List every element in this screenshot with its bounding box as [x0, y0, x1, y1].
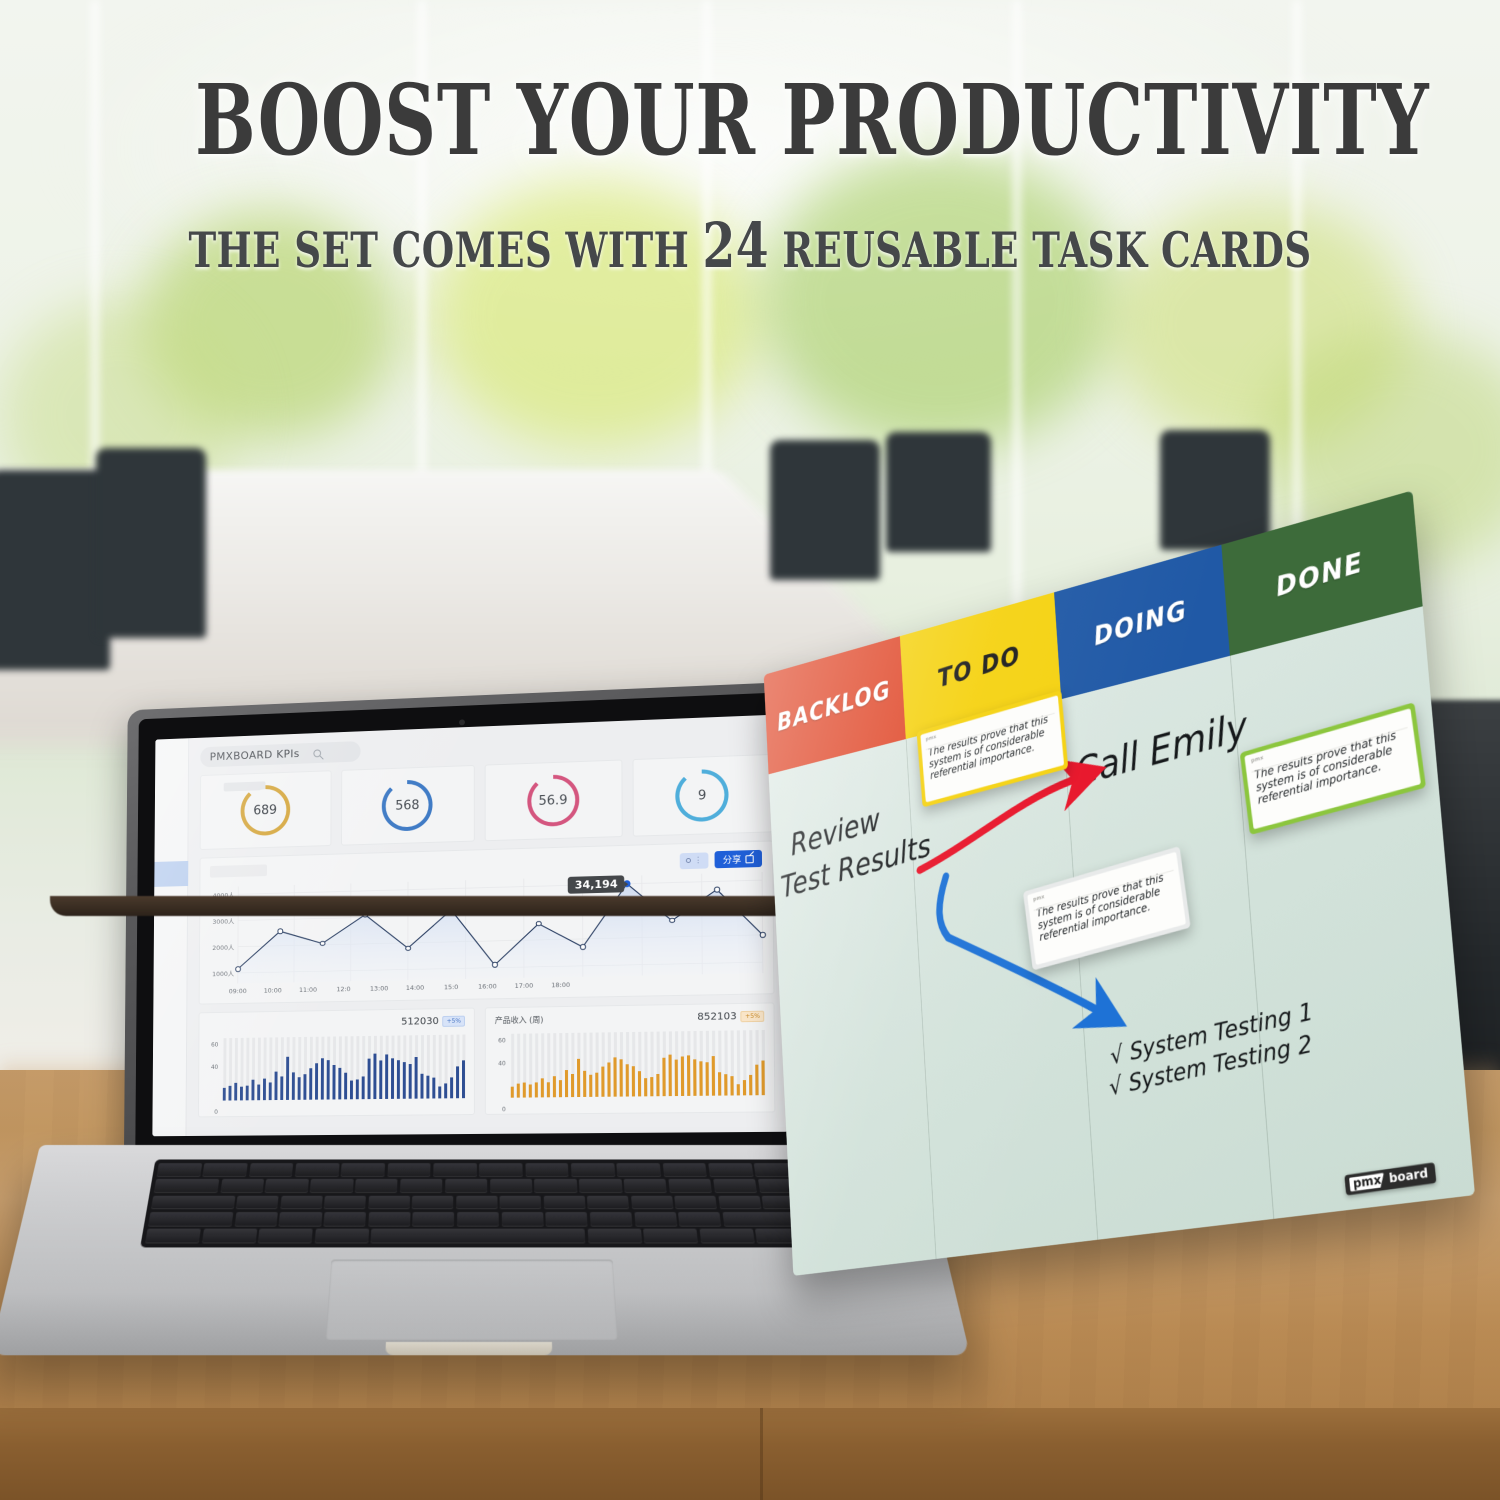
trackpad[interactable] [325, 1260, 618, 1340]
kpi-card[interactable]: 689 [200, 770, 331, 850]
bar [669, 1055, 672, 1096]
x-tick-label: 13:00 [370, 984, 388, 992]
bar [638, 1071, 640, 1096]
y-tick-label: 60 [211, 1042, 218, 1049]
share-button[interactable]: 分享 [715, 850, 763, 868]
bar [681, 1057, 684, 1096]
bar [362, 1076, 364, 1099]
bar-column [396, 1035, 401, 1098]
bar-column [349, 1036, 354, 1099]
bar-column [643, 1032, 648, 1097]
desk-seam [760, 1408, 763, 1500]
bar-column [686, 1031, 692, 1096]
keyboard-key[interactable] [587, 1195, 629, 1209]
card-surface: pmx The results prove that this system i… [1244, 708, 1421, 829]
kpi-card[interactable]: 9 [632, 754, 773, 837]
x-tick-label: 17:00 [515, 982, 534, 990]
task-card-done[interactable]: pmx The results prove that this system i… [1240, 702, 1426, 835]
bar-column [314, 1037, 319, 1100]
y-tick-label: 3000人 [212, 916, 234, 926]
bar [344, 1073, 346, 1100]
bar [700, 1061, 703, 1095]
office-chair [770, 440, 880, 580]
laptop-screen: PMXBOARD KPIs 689 [152, 714, 788, 1136]
subtitle-pre: THE SET COMES WITH [188, 221, 702, 279]
y-tick-label: 40 [211, 1064, 218, 1071]
bar-chart-header: 512030 +5% [208, 1016, 465, 1031]
bar [675, 1060, 678, 1096]
search-input[interactable]: PMXBOARD KPIs [200, 741, 360, 767]
bar [385, 1055, 387, 1099]
data-point[interactable] [405, 945, 410, 951]
bar [565, 1070, 567, 1097]
y-axis-labels: 04060 [205, 1038, 219, 1112]
data-point[interactable] [235, 966, 240, 971]
bar-column [748, 1030, 754, 1095]
office-chair [96, 448, 206, 638]
bar-column [588, 1033, 593, 1097]
data-point[interactable] [760, 932, 766, 938]
bar [456, 1066, 458, 1098]
bar-column [698, 1031, 704, 1096]
keyboard-key[interactable] [543, 1195, 585, 1209]
keyboard-key[interactable] [234, 1212, 277, 1226]
y-tick-label: 1000人 [212, 968, 234, 978]
bar [517, 1084, 519, 1098]
bar-column [384, 1036, 389, 1099]
keyboard-key[interactable] [324, 1195, 366, 1209]
bar [321, 1059, 323, 1100]
bar-chart-card[interactable]: 产品收入 (周) 852103 +5% 04060 [485, 1002, 776, 1115]
keyboard-key[interactable] [490, 1179, 532, 1193]
bar [356, 1079, 358, 1099]
bar [235, 1082, 237, 1100]
keyboard-key[interactable] [314, 1229, 369, 1244]
bar [223, 1088, 225, 1100]
data-point[interactable] [536, 921, 542, 927]
x-tick-label: 15:0 [444, 983, 458, 991]
keyboard-key[interactable] [668, 1179, 712, 1193]
bar [315, 1063, 317, 1099]
bar-column [760, 1030, 766, 1095]
x-tick-label: 16:00 [478, 982, 497, 990]
bar [350, 1080, 352, 1099]
bar [511, 1087, 513, 1098]
sidebar-item-active[interactable] [154, 861, 188, 887]
keyboard-key[interactable] [201, 1229, 256, 1244]
bar-column [729, 1030, 735, 1095]
keyboard-key[interactable] [617, 1163, 662, 1177]
keyboard-key[interactable] [258, 1229, 313, 1244]
bar [462, 1061, 464, 1099]
column-label: DOING [1093, 593, 1187, 652]
bar-column [378, 1036, 383, 1099]
keyboard-key[interactable] [412, 1212, 454, 1226]
data-point[interactable] [320, 941, 325, 946]
bar [529, 1085, 531, 1098]
bar-column [754, 1030, 760, 1095]
bar [380, 1061, 382, 1099]
line-chart-plot: 1000人2000人3000人4000人 34,194 09:0010:0011… [207, 872, 763, 1000]
bar [743, 1081, 745, 1096]
bar-column [674, 1031, 679, 1096]
keyboard-key[interactable] [368, 1195, 410, 1209]
card-text: The results prove that this system is of… [928, 712, 1056, 782]
bar [620, 1059, 622, 1096]
bar-chart-card[interactable]: 512030 +5% 04060 [198, 1008, 475, 1118]
bar-column [612, 1032, 617, 1096]
bar [577, 1059, 579, 1097]
page-title: BOOST YOUR PRODUCTIVITY [195, 72, 1305, 169]
bar-chart-value: 512030 [401, 1016, 439, 1027]
keyboard-key[interactable] [280, 1195, 323, 1209]
kpi-gauge: 689 [240, 784, 290, 836]
bar [608, 1063, 610, 1097]
keyboard-key[interactable] [310, 1179, 353, 1193]
bar [541, 1078, 543, 1097]
bar [397, 1060, 399, 1098]
bar [547, 1082, 549, 1098]
bar [762, 1061, 765, 1096]
data-point[interactable] [277, 929, 282, 934]
bar-column [233, 1038, 238, 1101]
data-point[interactable] [492, 962, 497, 968]
keyboard-key[interactable] [368, 1212, 410, 1226]
subtitle-count: 24 [703, 209, 769, 282]
bar-column [337, 1036, 342, 1099]
bar-column [343, 1036, 348, 1099]
data-point[interactable] [669, 918, 675, 924]
x-tick-label: 18:00 [551, 981, 570, 989]
keyboard-key[interactable] [145, 1229, 201, 1244]
bar [596, 1072, 598, 1096]
bar [749, 1075, 751, 1096]
bar [391, 1059, 393, 1099]
keyboard[interactable] [140, 1159, 816, 1247]
kpi-gauge: 9 [675, 769, 729, 823]
bar-column [552, 1033, 557, 1097]
bar-column [582, 1033, 587, 1097]
kpi-card[interactable]: 56.9 [485, 759, 623, 841]
bar [712, 1056, 715, 1095]
bar [445, 1083, 447, 1098]
bar [725, 1074, 727, 1096]
bar [559, 1080, 561, 1098]
bar [286, 1057, 288, 1100]
bar-plot: 04060 [492, 1030, 766, 1110]
bar [403, 1062, 405, 1099]
card-text: The results prove that this system is of… [1036, 869, 1176, 944]
keyboard-key[interactable] [590, 1212, 633, 1226]
bar [756, 1065, 759, 1096]
bar [602, 1067, 604, 1097]
bar [252, 1079, 254, 1100]
bar-plot: 04060 [205, 1034, 466, 1112]
bar-column [461, 1034, 466, 1098]
keyboard-key[interactable] [400, 1179, 443, 1193]
more-icon: ⋮ [694, 856, 702, 864]
bar [523, 1082, 525, 1098]
keyboard-key[interactable] [718, 1195, 761, 1209]
desk-edge [0, 1408, 1500, 1500]
keyboard-key[interactable] [699, 1229, 754, 1244]
status-badge: +5% [443, 1016, 465, 1027]
brand-mark: pmx [1349, 1173, 1385, 1192]
x-tick-label: 10:00 [264, 986, 282, 994]
bar-column [735, 1030, 741, 1095]
keyboard-key[interactable] [236, 1195, 279, 1209]
bar [298, 1077, 300, 1100]
keyboard-key[interactable] [295, 1163, 340, 1177]
laptop-bezel: PMXBOARD KPIs 689 [135, 691, 807, 1151]
keyboard-key[interactable] [579, 1179, 622, 1193]
keyboard-key[interactable] [587, 1229, 642, 1244]
keyboard-key[interactable] [546, 1212, 588, 1226]
keyboard-key[interactable] [323, 1212, 366, 1226]
bar-chart-value-group: 512030 +5% [401, 1016, 465, 1028]
keyboard-key[interactable] [457, 1212, 499, 1226]
keyboard-key[interactable] [678, 1212, 721, 1226]
bars [222, 1034, 466, 1100]
bar [614, 1058, 616, 1097]
y-tick-label: 40 [498, 1060, 506, 1067]
bar-column [600, 1032, 605, 1096]
bar [427, 1075, 429, 1098]
bar-column [262, 1038, 267, 1101]
kpi-card[interactable]: 568 [341, 765, 475, 846]
bar [339, 1068, 341, 1100]
bar [439, 1087, 441, 1099]
keyboard-key[interactable] [154, 1179, 220, 1193]
bars [510, 1030, 766, 1098]
bar-column [268, 1037, 273, 1100]
laptop-lid: PMXBOARD KPIs 689 [124, 681, 820, 1173]
bar-column [402, 1035, 407, 1098]
y-tick-label: 0 [214, 1109, 218, 1116]
chart-title-placeholder [210, 864, 267, 877]
keyboard-key[interactable] [631, 1195, 673, 1209]
keyboard-key[interactable] [643, 1229, 698, 1244]
keyboard-key[interactable] [713, 1179, 757, 1193]
bar [571, 1074, 573, 1097]
bar [644, 1078, 646, 1097]
bar-column [667, 1031, 672, 1096]
keyboard-key[interactable] [534, 1179, 577, 1193]
bar-column [437, 1035, 442, 1099]
keyboard-key[interactable] [500, 1195, 542, 1209]
scene: BOOST YOUR PRODUCTIVITY THE SET COMES WI… [0, 0, 1500, 1500]
bar-column [420, 1035, 425, 1098]
bar [246, 1085, 248, 1100]
plot-area: 34,194 [238, 872, 763, 983]
keyboard-key[interactable] [412, 1195, 454, 1209]
bar-column [425, 1035, 430, 1099]
bar-column [637, 1032, 642, 1097]
bar [687, 1056, 690, 1096]
card-surface: pmx The results prove that this system i… [1027, 852, 1186, 965]
page-subtitle: THE SET COMES WITH 24 REUSABLE TASK CARD… [180, 209, 1320, 282]
bar-column [655, 1032, 660, 1097]
keyboard-key[interactable] [634, 1212, 677, 1226]
bar [718, 1072, 720, 1096]
bar-column [625, 1032, 630, 1097]
keyboard-key[interactable] [249, 1163, 294, 1177]
share-label: 分享 [723, 852, 742, 866]
bar-column [618, 1032, 623, 1097]
bar-column [320, 1037, 325, 1100]
keyboard-row [148, 1212, 808, 1226]
bar [263, 1078, 265, 1100]
bar-column [361, 1036, 366, 1099]
bar [275, 1072, 277, 1101]
bar [240, 1087, 242, 1100]
laptop-lip [385, 1342, 552, 1355]
kpi-value: 689 [253, 803, 277, 818]
headline-block: BOOST YOUR PRODUCTIVITY THE SET COMES WI… [0, 72, 1500, 282]
settings-button[interactable]: ⋮ [680, 852, 709, 869]
keyboard-key[interactable] [220, 1179, 264, 1193]
bar [281, 1076, 283, 1100]
gear-icon [686, 858, 691, 863]
column-label: TO DO [937, 639, 1021, 694]
bar-column [717, 1031, 723, 1096]
bar-column [431, 1035, 436, 1099]
bar-column [326, 1037, 331, 1100]
bar [310, 1068, 312, 1099]
keyboard-key[interactable] [279, 1212, 322, 1226]
dashboard-sidebar[interactable] [152, 738, 189, 1136]
bar [269, 1082, 271, 1100]
keyboard-key[interactable] [479, 1163, 523, 1177]
kpi-row: 689 568 [200, 754, 773, 850]
card-logo: pmx [1251, 754, 1264, 764]
bar-column [606, 1032, 611, 1096]
keyboard-key[interactable] [456, 1195, 497, 1209]
bar-column [285, 1037, 290, 1100]
keyboard-key[interactable] [341, 1163, 385, 1177]
dashboard-app: PMXBOARD KPIs 689 [152, 714, 788, 1136]
keyboard-key[interactable] [525, 1163, 569, 1177]
status-badge: +5% [741, 1011, 764, 1023]
bar [663, 1058, 665, 1096]
bar [450, 1077, 452, 1098]
bar [626, 1064, 628, 1096]
bar-column [522, 1034, 527, 1098]
kpi-value: 9 [698, 788, 707, 803]
bar-column [680, 1031, 685, 1096]
keyboard-row [154, 1179, 802, 1193]
keyboard-key[interactable] [433, 1163, 477, 1177]
card-logo: pmx [1033, 894, 1045, 903]
bar [333, 1065, 335, 1099]
bar-chart-header: 产品收入 (周) 852103 +5% [495, 1011, 765, 1026]
bar-column [704, 1031, 710, 1096]
bar-column [408, 1035, 413, 1098]
bar [304, 1074, 306, 1100]
card-text: The results prove that this system is of… [1254, 726, 1410, 807]
bar [553, 1076, 555, 1097]
bar-column [228, 1038, 233, 1100]
office-chair [1160, 430, 1270, 550]
keyboard-row [157, 1163, 800, 1177]
kpi-value: 568 [395, 798, 419, 813]
search-icon[interactable] [313, 749, 321, 757]
data-point[interactable] [714, 887, 720, 893]
y-tick-label: 0 [502, 1106, 506, 1113]
bar-column [355, 1036, 360, 1099]
x-tick-label: 12:0 [336, 985, 350, 993]
bar-chart-value: 852103 [697, 1011, 736, 1023]
keyboard-key[interactable] [571, 1163, 615, 1177]
bar-column [274, 1037, 279, 1100]
keyboard-key[interactable] [148, 1212, 234, 1226]
bar [292, 1072, 294, 1100]
bar-column [279, 1037, 284, 1100]
task-card-doing[interactable]: pmx The results prove that this system i… [1023, 846, 1191, 970]
bar [590, 1074, 592, 1096]
bar-column [564, 1033, 569, 1097]
keyboard-key[interactable] [265, 1179, 309, 1193]
keyboard-key[interactable] [355, 1179, 398, 1193]
bar-column [302, 1037, 307, 1100]
column-divider [906, 739, 937, 1259]
keyboard-key[interactable] [501, 1212, 543, 1226]
bar-column [372, 1036, 377, 1099]
board-brand-logo: pmx board [1344, 1162, 1436, 1195]
bar-column [528, 1033, 533, 1097]
dashboard-title: PMXBOARD KPIs [210, 747, 300, 763]
keyboard-key[interactable] [157, 1163, 203, 1177]
keyboard-key[interactable] [203, 1163, 248, 1177]
bar-column [692, 1031, 698, 1096]
bar-column [546, 1033, 551, 1097]
keyboard-key[interactable] [624, 1179, 667, 1193]
keyboard-key[interactable] [151, 1195, 236, 1209]
keyboard-key[interactable] [662, 1163, 707, 1177]
bar-column [661, 1031, 666, 1096]
bar-column [256, 1038, 261, 1101]
keyboard-key[interactable] [708, 1163, 753, 1177]
keyboard-key[interactable] [387, 1163, 431, 1177]
bar [731, 1076, 733, 1096]
bar-column [576, 1033, 581, 1097]
bar-column [367, 1036, 372, 1099]
line-chart-card: ⋮ 分享 1000人2000人3000人4 [199, 840, 775, 1004]
bar [706, 1062, 709, 1095]
bar-column [449, 1035, 454, 1099]
bar-column [455, 1035, 460, 1099]
card-logo: pmx [926, 734, 937, 743]
column-label: DONE [1276, 545, 1364, 604]
bar [368, 1059, 370, 1099]
bar-column [649, 1032, 654, 1097]
bar-chart-row: 512030 +5% 04060 [198, 1002, 775, 1117]
bar-column [510, 1034, 515, 1098]
keyboard-key[interactable] [445, 1179, 487, 1193]
kpi-value: 56.9 [539, 793, 568, 809]
handwriting-call-emily: Call Emily [1073, 703, 1249, 795]
keyboard-key[interactable] [370, 1229, 585, 1244]
bar-column [390, 1036, 395, 1099]
keyboard-key[interactable] [674, 1195, 717, 1209]
bar-column [222, 1038, 227, 1100]
bar-column [443, 1035, 448, 1099]
bar [433, 1077, 435, 1098]
dashboard-main: PMXBOARD KPIs 689 [186, 714, 788, 1136]
bar [694, 1059, 697, 1095]
data-point[interactable] [580, 944, 586, 950]
bar-column [570, 1033, 575, 1097]
